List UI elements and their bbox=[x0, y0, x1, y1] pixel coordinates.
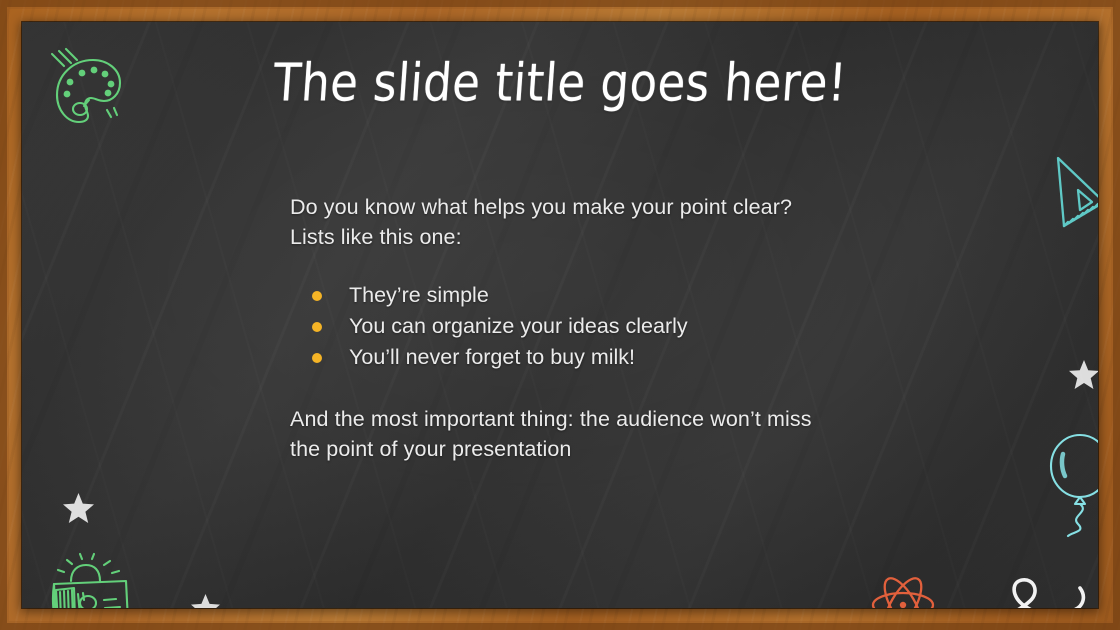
intro-paragraph: Do you know what helps you make your poi… bbox=[290, 192, 1050, 252]
list-item: You can organize your ideas clearly bbox=[312, 311, 1050, 342]
chalkboard-surface: The slide title goes here! Do you know w… bbox=[22, 22, 1098, 608]
list-item: You’ll never forget to buy milk! bbox=[312, 342, 1050, 373]
list-item: They’re simple bbox=[312, 280, 1050, 311]
closing-paragraph: And the most important thing: the audien… bbox=[290, 404, 1050, 464]
list-item-label: You’ll never forget to buy milk! bbox=[349, 345, 635, 369]
closing-line-1: And the most important thing: the audien… bbox=[290, 404, 1050, 434]
intro-line-2: Lists like this one: bbox=[290, 222, 1050, 252]
page-title: The slide title goes here! bbox=[22, 52, 1098, 113]
slide-body: Do you know what helps you make your poi… bbox=[290, 192, 1050, 464]
list-item-label: They’re simple bbox=[349, 283, 489, 307]
bullet-list: They’re simple You can organize your ide… bbox=[290, 280, 1050, 373]
intro-line-1: Do you know what helps you make your poi… bbox=[290, 192, 1050, 222]
list-item-label: You can organize your ideas clearly bbox=[349, 314, 688, 338]
bullet-marker-icon bbox=[312, 353, 322, 363]
bullet-marker-icon bbox=[312, 291, 322, 301]
closing-line-2: the point of your presentation bbox=[290, 434, 1050, 464]
chalkboard-slide: The slide title goes here! Do you know w… bbox=[0, 0, 1120, 630]
bullet-marker-icon bbox=[312, 322, 322, 332]
slide-content: The slide title goes here! Do you know w… bbox=[22, 22, 1098, 608]
